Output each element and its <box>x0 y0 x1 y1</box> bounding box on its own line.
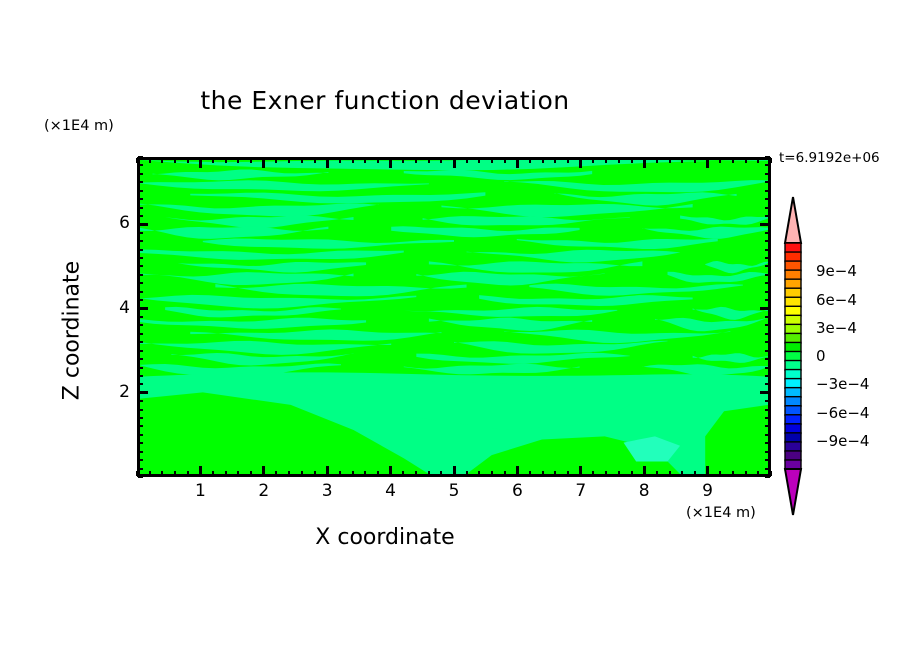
x-axis-minor-tick <box>415 471 417 476</box>
y-axis-minor-tick <box>138 400 143 402</box>
x-axis-tick-label: 4 <box>371 481 411 501</box>
x-axis-minor-tick <box>402 471 404 476</box>
x-axis-minor-tick <box>250 471 252 476</box>
x-axis-minor-tick <box>174 158 176 163</box>
x-axis-minor-tick <box>618 471 620 476</box>
x-axis-major-tick <box>453 158 456 168</box>
x-axis-minor-tick <box>694 158 696 163</box>
x-axis-minor-tick <box>339 158 341 163</box>
x-axis-tick-label: 3 <box>307 481 347 501</box>
y-axis-minor-tick <box>765 324 770 326</box>
y-axis-minor-tick <box>138 265 143 267</box>
x-axis-minor-tick <box>466 158 468 163</box>
y-axis-minor-tick <box>138 367 143 369</box>
colorbar-band <box>785 415 801 425</box>
y-axis-minor-tick <box>765 358 770 360</box>
page-title: the Exner function deviation <box>0 86 770 115</box>
y-axis-minor-tick <box>138 333 143 335</box>
y-axis-minor-tick <box>138 451 143 453</box>
y-axis-minor-tick <box>138 383 143 385</box>
colorbar-tick-label: 0 <box>816 347 826 365</box>
x-axis-minor-tick <box>504 158 506 163</box>
x-axis-major-tick <box>516 466 519 476</box>
x-axis-minor-tick <box>491 471 493 476</box>
colorbar-band <box>785 397 801 407</box>
contour-field <box>140 160 768 474</box>
x-axis-minor-tick <box>618 158 620 163</box>
x-axis-major-tick <box>389 466 392 476</box>
x-axis-minor-tick <box>542 471 544 476</box>
y-axis-minor-tick <box>765 375 770 377</box>
x-axis-tick-label: 2 <box>244 481 284 501</box>
x-axis-minor-tick <box>161 471 163 476</box>
y-axis-tick-label: 6 <box>100 213 130 233</box>
x-axis-minor-tick <box>212 158 214 163</box>
x-axis-tick-label: 5 <box>434 481 474 501</box>
x-axis-minor-tick <box>631 471 633 476</box>
x-axis-minor-tick <box>504 471 506 476</box>
x-axis-minor-tick <box>377 471 379 476</box>
colorbar-band <box>785 370 801 380</box>
colorbar-band <box>785 279 801 289</box>
x-axis-minor-tick <box>250 158 252 163</box>
y-axis-minor-tick <box>138 459 143 461</box>
y-axis-tick-label: 2 <box>100 382 130 402</box>
y-axis-minor-tick <box>138 249 143 251</box>
x-axis-minor-tick <box>149 158 151 163</box>
x-axis-minor-tick <box>402 158 404 163</box>
x-axis-major-tick <box>199 466 202 476</box>
x-axis-minor-tick <box>656 158 658 163</box>
x-axis-minor-tick <box>478 158 480 163</box>
y-axis-minor-tick <box>138 316 143 318</box>
y-axis-minor-tick <box>138 476 143 478</box>
y-axis-minor-tick <box>138 282 143 284</box>
x-axis-minor-tick <box>314 471 316 476</box>
colorbar-tick-label: 3e−4 <box>816 319 857 337</box>
y-axis-minor-tick <box>765 265 770 267</box>
x-axis-major-tick <box>643 158 646 168</box>
y-axis-minor-tick <box>138 156 143 158</box>
x-axis-major-tick <box>389 158 392 168</box>
x-axis-minor-tick <box>478 471 480 476</box>
y-axis-minor-tick <box>765 383 770 385</box>
y-axis-minor-tick <box>765 215 770 217</box>
y-axis-minor-tick <box>138 358 143 360</box>
x-axis-title: X coordinate <box>0 525 770 550</box>
y-axis-minor-tick <box>765 468 770 470</box>
y-axis-minor-tick <box>138 274 143 276</box>
y-axis-minor-tick <box>765 173 770 175</box>
x-axis-minor-tick <box>237 158 239 163</box>
y-axis-minor-tick <box>138 409 143 411</box>
y-axis-title: Z coordinate <box>60 211 85 451</box>
y-axis-major-tick <box>138 391 148 394</box>
x-axis-minor-tick <box>301 158 303 163</box>
y-axis-minor-tick <box>765 190 770 192</box>
x-axis-minor-tick <box>529 158 531 163</box>
x-axis-minor-tick <box>681 158 683 163</box>
colorbar-tick-label: 9e−4 <box>816 262 857 280</box>
x-axis-minor-tick <box>352 158 354 163</box>
x-axis-minor-tick <box>592 471 594 476</box>
y-axis-minor-tick <box>765 156 770 158</box>
y-axis-minor-tick <box>138 181 143 183</box>
x-axis-major-tick <box>262 158 265 168</box>
x-axis-minor-tick <box>605 471 607 476</box>
x-axis-minor-tick <box>732 471 734 476</box>
y-axis-minor-tick <box>765 333 770 335</box>
y-axis-major-tick <box>760 223 770 226</box>
y-axis-minor-tick <box>765 282 770 284</box>
colorbar-band <box>785 252 801 262</box>
y-axis-minor-tick <box>765 274 770 276</box>
y-axis-minor-tick <box>765 341 770 343</box>
x-axis-minor-tick <box>364 471 366 476</box>
x-axis-major-tick <box>516 158 519 168</box>
y-axis-minor-tick <box>765 316 770 318</box>
y-axis-minor-tick <box>138 291 143 293</box>
x-axis-tick-label: 9 <box>688 481 728 501</box>
colorbar-band <box>785 243 801 253</box>
x-axis-minor-tick <box>732 158 734 163</box>
colorbar-tick-label: −9e−4 <box>816 432 869 450</box>
x-axis-major-tick <box>326 466 329 476</box>
y-axis-minor-tick <box>765 181 770 183</box>
y-axis-minor-tick <box>765 207 770 209</box>
x-axis-minor-tick <box>237 471 239 476</box>
x-axis-major-tick <box>326 158 329 168</box>
y-axis-minor-tick <box>138 299 143 301</box>
y-axis-minor-tick <box>138 425 143 427</box>
colorbar-band <box>785 288 801 298</box>
colorbar-band <box>785 361 801 371</box>
x-axis-minor-tick <box>288 471 290 476</box>
colorbar-band <box>785 433 801 443</box>
colorbar-band <box>785 351 801 361</box>
y-axis-minor-tick <box>765 232 770 234</box>
y-axis-minor-tick <box>138 417 143 419</box>
x-axis-minor-tick <box>377 158 379 163</box>
x-axis-minor-tick <box>554 158 556 163</box>
x-axis-major-tick <box>262 466 265 476</box>
y-axis-minor-tick <box>138 442 143 444</box>
x-axis-minor-tick <box>567 471 569 476</box>
y-axis-unit-label: (×1E4 m) <box>44 118 114 134</box>
x-axis-minor-tick <box>554 471 556 476</box>
y-axis-minor-tick <box>765 409 770 411</box>
x-axis-minor-tick <box>339 471 341 476</box>
colorbar-tick-label: 6e−4 <box>816 291 857 309</box>
colorbar-band <box>785 424 801 434</box>
x-axis-minor-tick <box>428 158 430 163</box>
y-axis-minor-tick <box>138 190 143 192</box>
y-axis-minor-tick <box>138 434 143 436</box>
colorbar-tick-label: −3e−4 <box>816 375 869 393</box>
x-axis-minor-tick <box>149 471 151 476</box>
timestamp-label: t=6.9192e+06 <box>779 150 880 166</box>
y-axis-minor-tick <box>138 215 143 217</box>
y-axis-minor-tick <box>765 240 770 242</box>
x-axis-minor-tick <box>212 471 214 476</box>
colorbar-band <box>785 315 801 325</box>
y-axis-major-tick <box>760 391 770 394</box>
x-axis-major-tick <box>643 466 646 476</box>
x-axis-minor-tick <box>542 158 544 163</box>
x-axis-minor-tick <box>567 158 569 163</box>
x-axis-minor-tick <box>631 158 633 163</box>
y-axis-tick-label: 4 <box>100 298 130 318</box>
y-axis-minor-tick <box>765 367 770 369</box>
y-axis-minor-tick <box>138 257 143 259</box>
x-axis-minor-tick <box>681 471 683 476</box>
x-axis-minor-tick <box>757 158 759 163</box>
y-axis-minor-tick <box>138 240 143 242</box>
y-axis-minor-tick <box>765 425 770 427</box>
y-axis-minor-tick <box>765 442 770 444</box>
colorbar-band <box>785 406 801 416</box>
x-axis-minor-tick <box>719 471 721 476</box>
colorbar-band <box>785 306 801 316</box>
x-axis-minor-tick <box>174 471 176 476</box>
colorbar-band <box>785 442 801 452</box>
x-axis-minor-tick <box>275 471 277 476</box>
x-axis-major-tick <box>579 158 582 168</box>
y-axis-minor-tick <box>138 350 143 352</box>
y-axis-minor-tick <box>138 468 143 470</box>
x-axis-minor-tick <box>225 158 227 163</box>
x-axis-minor-tick <box>187 471 189 476</box>
x-axis-major-tick <box>453 466 456 476</box>
x-axis-minor-tick <box>669 471 671 476</box>
y-axis-minor-tick <box>765 198 770 200</box>
y-axis-minor-tick <box>765 257 770 259</box>
x-axis-major-tick <box>706 466 709 476</box>
x-axis-minor-tick <box>288 158 290 163</box>
colorbar-band <box>785 324 801 334</box>
x-axis-tick-label: 8 <box>624 481 664 501</box>
y-axis-minor-tick <box>765 451 770 453</box>
colorbar-tick-label: −6e−4 <box>816 404 869 422</box>
x-axis-minor-tick <box>592 158 594 163</box>
x-axis-minor-tick <box>745 158 747 163</box>
x-axis-major-tick <box>199 158 202 168</box>
y-axis-major-tick <box>760 307 770 310</box>
y-axis-major-tick <box>138 223 148 226</box>
y-axis-minor-tick <box>138 341 143 343</box>
contour-plot-area[interactable] <box>137 157 771 477</box>
y-axis-minor-tick <box>138 173 143 175</box>
x-axis-minor-tick <box>136 158 138 163</box>
colorbar-under-arrow <box>785 469 801 515</box>
colorbar-band <box>785 388 801 398</box>
x-axis-minor-tick <box>757 471 759 476</box>
x-axis-major-tick <box>706 158 709 168</box>
x-axis-tick-label: 7 <box>561 481 601 501</box>
y-axis-minor-tick <box>765 417 770 419</box>
x-axis-minor-tick <box>225 471 227 476</box>
x-axis-minor-tick <box>161 158 163 163</box>
x-axis-minor-tick <box>440 158 442 163</box>
x-axis-minor-tick <box>466 471 468 476</box>
x-axis-minor-tick <box>719 158 721 163</box>
colorbar-band <box>785 379 801 389</box>
x-axis-minor-tick <box>440 471 442 476</box>
x-axis-minor-tick <box>352 471 354 476</box>
x-axis-minor-tick <box>770 158 772 163</box>
y-axis-minor-tick <box>765 459 770 461</box>
x-axis-tick-label: 6 <box>497 481 537 501</box>
colorbar[interactable] <box>775 195 811 517</box>
colorbar-band <box>785 451 801 461</box>
x-axis-minor-tick <box>415 158 417 163</box>
x-axis-minor-tick <box>745 471 747 476</box>
x-axis-major-tick <box>579 466 582 476</box>
x-axis-minor-tick <box>669 158 671 163</box>
x-axis-minor-tick <box>187 158 189 163</box>
y-axis-minor-tick <box>765 291 770 293</box>
x-axis-minor-tick <box>364 158 366 163</box>
colorbar-band <box>785 261 801 271</box>
x-axis-minor-tick <box>428 471 430 476</box>
colorbar-band <box>785 333 801 343</box>
y-axis-minor-tick <box>765 350 770 352</box>
x-axis-minor-tick <box>694 471 696 476</box>
y-axis-minor-tick <box>138 164 143 166</box>
y-axis-minor-tick <box>138 324 143 326</box>
x-axis-tick-label: 1 <box>180 481 220 501</box>
colorbar-band <box>785 342 801 352</box>
y-axis-minor-tick <box>765 400 770 402</box>
colorbar-band <box>785 270 801 280</box>
x-axis-minor-tick <box>275 158 277 163</box>
y-axis-minor-tick <box>765 249 770 251</box>
x-axis-minor-tick <box>770 471 772 476</box>
x-axis-unit-label: (×1E4 m) <box>686 505 756 521</box>
y-axis-minor-tick <box>138 232 143 234</box>
x-axis-minor-tick <box>491 158 493 163</box>
colorbar-over-arrow <box>785 197 801 243</box>
x-axis-minor-tick <box>314 158 316 163</box>
x-axis-minor-tick <box>301 471 303 476</box>
y-axis-minor-tick <box>765 476 770 478</box>
x-axis-minor-tick <box>656 471 658 476</box>
y-axis-minor-tick <box>765 164 770 166</box>
y-axis-minor-tick <box>138 207 143 209</box>
y-axis-major-tick <box>138 307 148 310</box>
colorbar-gradient <box>775 195 811 517</box>
x-axis-minor-tick <box>529 471 531 476</box>
x-axis-minor-tick <box>605 158 607 163</box>
y-axis-minor-tick <box>138 198 143 200</box>
y-axis-minor-tick <box>138 375 143 377</box>
y-axis-minor-tick <box>765 299 770 301</box>
colorbar-band <box>785 297 801 307</box>
y-axis-minor-tick <box>765 434 770 436</box>
